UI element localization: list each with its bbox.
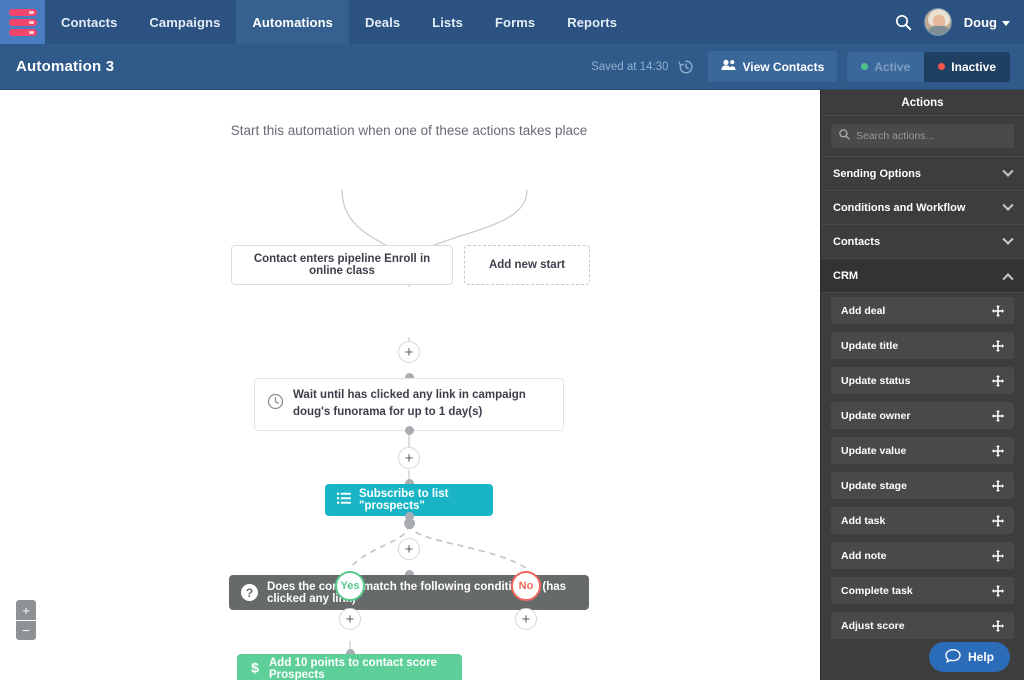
action-label: Update stage — [841, 480, 907, 492]
nav-label: Contacts — [61, 15, 117, 30]
action-update-title[interactable]: Update title — [831, 332, 1014, 359]
sidebar-group-label: Sending Options — [833, 168, 921, 180]
actions-sidebar: Actions Sending Options Conditions and W… — [820, 90, 1024, 680]
chevron-down-icon — [1002, 199, 1013, 210]
nav-label: Campaigns — [149, 15, 220, 30]
logo-bar-1 — [9, 9, 37, 16]
zoom-in-button[interactable]: + — [16, 600, 36, 620]
search-icon[interactable] — [895, 14, 912, 31]
subheader-actions: Saved at 14:30 View Contacts Active Inac… — [591, 51, 1024, 82]
plus-icon: + — [522, 612, 531, 627]
add-new-start-label: Add new start — [489, 259, 565, 271]
action-label: Update value — [841, 445, 906, 457]
view-contacts-label: View Contacts — [742, 60, 824, 74]
sidebar-group-sending-options[interactable]: Sending Options — [821, 157, 1024, 191]
help-button[interactable]: Help — [929, 642, 1010, 672]
sidebar-group-crm[interactable]: CRM — [821, 259, 1024, 293]
action-label: Complete task — [841, 585, 913, 597]
action-update-value[interactable]: Update value — [831, 437, 1014, 464]
action-update-stage[interactable]: Update stage — [831, 472, 1014, 499]
branch-no-label: No — [519, 580, 534, 592]
action-update-owner[interactable]: Update owner — [831, 402, 1014, 429]
canvas-zoom-controls: + − — [16, 600, 36, 640]
drag-handle-icon[interactable] — [992, 515, 1004, 527]
user-name-label: Doug — [964, 15, 997, 30]
nav-label: Automations — [252, 15, 333, 30]
action-label: Adjust score — [841, 620, 905, 632]
action-label: Update owner — [841, 410, 910, 422]
saved-status: Saved at 14:30 — [591, 61, 668, 73]
avatar[interactable] — [924, 8, 952, 36]
nav-items: Contacts Campaigns Automations Deals Lis… — [45, 0, 633, 44]
sidebar-group-contacts[interactable]: Contacts — [821, 225, 1024, 259]
nav-right-group: Doug — [895, 0, 1024, 44]
status-active-label: Active — [874, 60, 910, 74]
drag-handle-icon[interactable] — [992, 340, 1004, 352]
sidebar-group-label: Conditions and Workflow — [833, 202, 965, 214]
chat-bubble-icon — [945, 649, 961, 666]
zoom-out-button[interactable]: − — [16, 620, 36, 640]
drag-handle-icon[interactable] — [992, 445, 1004, 457]
chevron-up-icon — [1002, 273, 1013, 284]
add-new-start-box[interactable]: Add new start — [464, 245, 590, 285]
app-root: Contacts Campaigns Automations Deals Lis… — [0, 0, 1024, 680]
help-label: Help — [968, 650, 994, 664]
action-label: Update status — [841, 375, 910, 387]
nav-item-contacts[interactable]: Contacts — [45, 0, 133, 44]
action-adjust-score[interactable]: Adjust score — [831, 612, 1014, 639]
action-update-status[interactable]: Update status — [831, 367, 1014, 394]
sidebar-group-conditions-and-workflow[interactable]: Conditions and Workflow — [821, 191, 1024, 225]
sidebar-group-label: CRM — [833, 270, 858, 282]
search-icon — [839, 127, 850, 145]
top-navigation-bar: Contacts Campaigns Automations Deals Lis… — [0, 0, 1024, 44]
search-actions-input[interactable] — [856, 130, 1006, 142]
branch-no[interactable]: No — [511, 571, 541, 601]
nav-item-campaigns[interactable]: Campaigns — [133, 0, 236, 44]
status-toggle-inactive[interactable]: Inactive — [924, 52, 1010, 82]
zoom-in-label: + — [22, 604, 30, 617]
status-toggle-active[interactable]: Active — [847, 52, 924, 82]
adjust-score-label: Add 10 points to contact score Prospects — [269, 657, 450, 680]
branch-yes[interactable]: Yes — [335, 571, 365, 601]
status-inactive-label: Inactive — [951, 60, 996, 74]
wait-action-node[interactable]: Wait until has clicked any link in campa… — [254, 378, 564, 431]
question-mark-icon: ? — [241, 584, 258, 601]
plus-icon: + — [405, 345, 414, 360]
automation-canvas[interactable]: Start this automation when one of these … — [0, 90, 820, 680]
action-label: Update title — [841, 340, 898, 352]
connector-dot-condition-bottom — [404, 518, 415, 529]
chevron-down-icon — [1002, 21, 1010, 26]
action-label: Add deal — [841, 305, 885, 317]
action-add-note[interactable]: Add note — [831, 542, 1014, 569]
page-title: Automation 3 — [0, 58, 114, 75]
nav-item-reports[interactable]: Reports — [551, 0, 633, 44]
app-logo[interactable] — [0, 0, 45, 44]
sidebar-group-label: Contacts — [833, 236, 880, 248]
action-add-deal[interactable]: Add deal — [831, 297, 1014, 324]
adjust-score-node[interactable]: $ Add 10 points to contact score Prospec… — [237, 654, 462, 680]
drag-handle-icon[interactable] — [992, 305, 1004, 317]
nav-label: Reports — [567, 15, 617, 30]
chevron-down-icon — [1002, 165, 1013, 176]
search-actions-box[interactable] — [831, 124, 1014, 148]
history-clock-icon[interactable] — [678, 59, 694, 75]
action-add-task[interactable]: Add task — [831, 507, 1014, 534]
zoom-out-label: − — [22, 624, 30, 637]
canvas-start-header: Start this automation when one of these … — [0, 123, 818, 138]
crm-action-list: Add deal Update title Update status Upda… — [821, 293, 1024, 639]
nav-item-deals[interactable]: Deals — [349, 0, 416, 44]
list-icon — [337, 492, 351, 508]
subscribe-to-list-label: Subscribe to list "prospects" — [359, 488, 481, 512]
drag-handle-icon[interactable] — [992, 620, 1004, 632]
nav-label: Lists — [432, 15, 463, 30]
automation-subheader: Automation 3 Saved at 14:30 View Contact… — [0, 44, 1024, 90]
drag-handle-icon[interactable] — [992, 480, 1004, 492]
nav-label: Deals — [365, 15, 400, 30]
nav-item-automations[interactable]: Automations — [236, 0, 349, 44]
add-step-button-2[interactable]: + — [398, 447, 420, 469]
clock-icon — [267, 393, 284, 415]
nav-label: Forms — [495, 15, 535, 30]
drag-handle-icon[interactable] — [992, 550, 1004, 562]
sidebar-search-wrap — [821, 116, 1024, 157]
start-trigger-label: Contact enters pipeline Enroll in online… — [240, 253, 444, 277]
dollar-icon: $ — [249, 660, 261, 678]
sidebar-title: Actions — [821, 90, 1024, 116]
logo-bar-2 — [9, 19, 37, 26]
start-trigger-box[interactable]: Contact enters pipeline Enroll in online… — [231, 245, 453, 285]
wait-action-label: Wait until has clicked any link in campa… — [293, 387, 551, 422]
inactive-status-dot — [938, 63, 945, 70]
logo-bar-3 — [9, 29, 37, 36]
nav-item-forms[interactable]: Forms — [479, 0, 551, 44]
active-status-dot — [861, 63, 868, 70]
user-menu[interactable]: Doug — [964, 15, 1010, 30]
action-label: Add note — [841, 550, 887, 562]
contacts-icon — [721, 59, 736, 74]
drag-handle-icon[interactable] — [992, 410, 1004, 422]
add-step-button-yes[interactable]: + — [339, 608, 361, 630]
chevron-down-icon — [1002, 233, 1013, 244]
avatar-body — [927, 26, 951, 35]
action-label: Add task — [841, 515, 885, 527]
plus-icon: + — [405, 451, 414, 466]
status-toggle-group: Active Inactive — [847, 52, 1010, 82]
nav-item-lists[interactable]: Lists — [416, 0, 479, 44]
drag-handle-icon[interactable] — [992, 375, 1004, 387]
plus-icon: + — [405, 542, 414, 557]
action-complete-task[interactable]: Complete task — [831, 577, 1014, 604]
add-step-button-no[interactable]: + — [515, 608, 537, 630]
add-step-button-1[interactable]: + — [398, 341, 420, 363]
plus-icon: + — [346, 612, 355, 627]
drag-handle-icon[interactable] — [992, 585, 1004, 597]
svg-text:$: $ — [251, 660, 259, 675]
connector-dot-wait-bottom — [405, 426, 414, 435]
view-contacts-button[interactable]: View Contacts — [708, 51, 837, 82]
add-step-button-3[interactable]: + — [398, 538, 420, 560]
branch-yes-label: Yes — [341, 580, 360, 592]
